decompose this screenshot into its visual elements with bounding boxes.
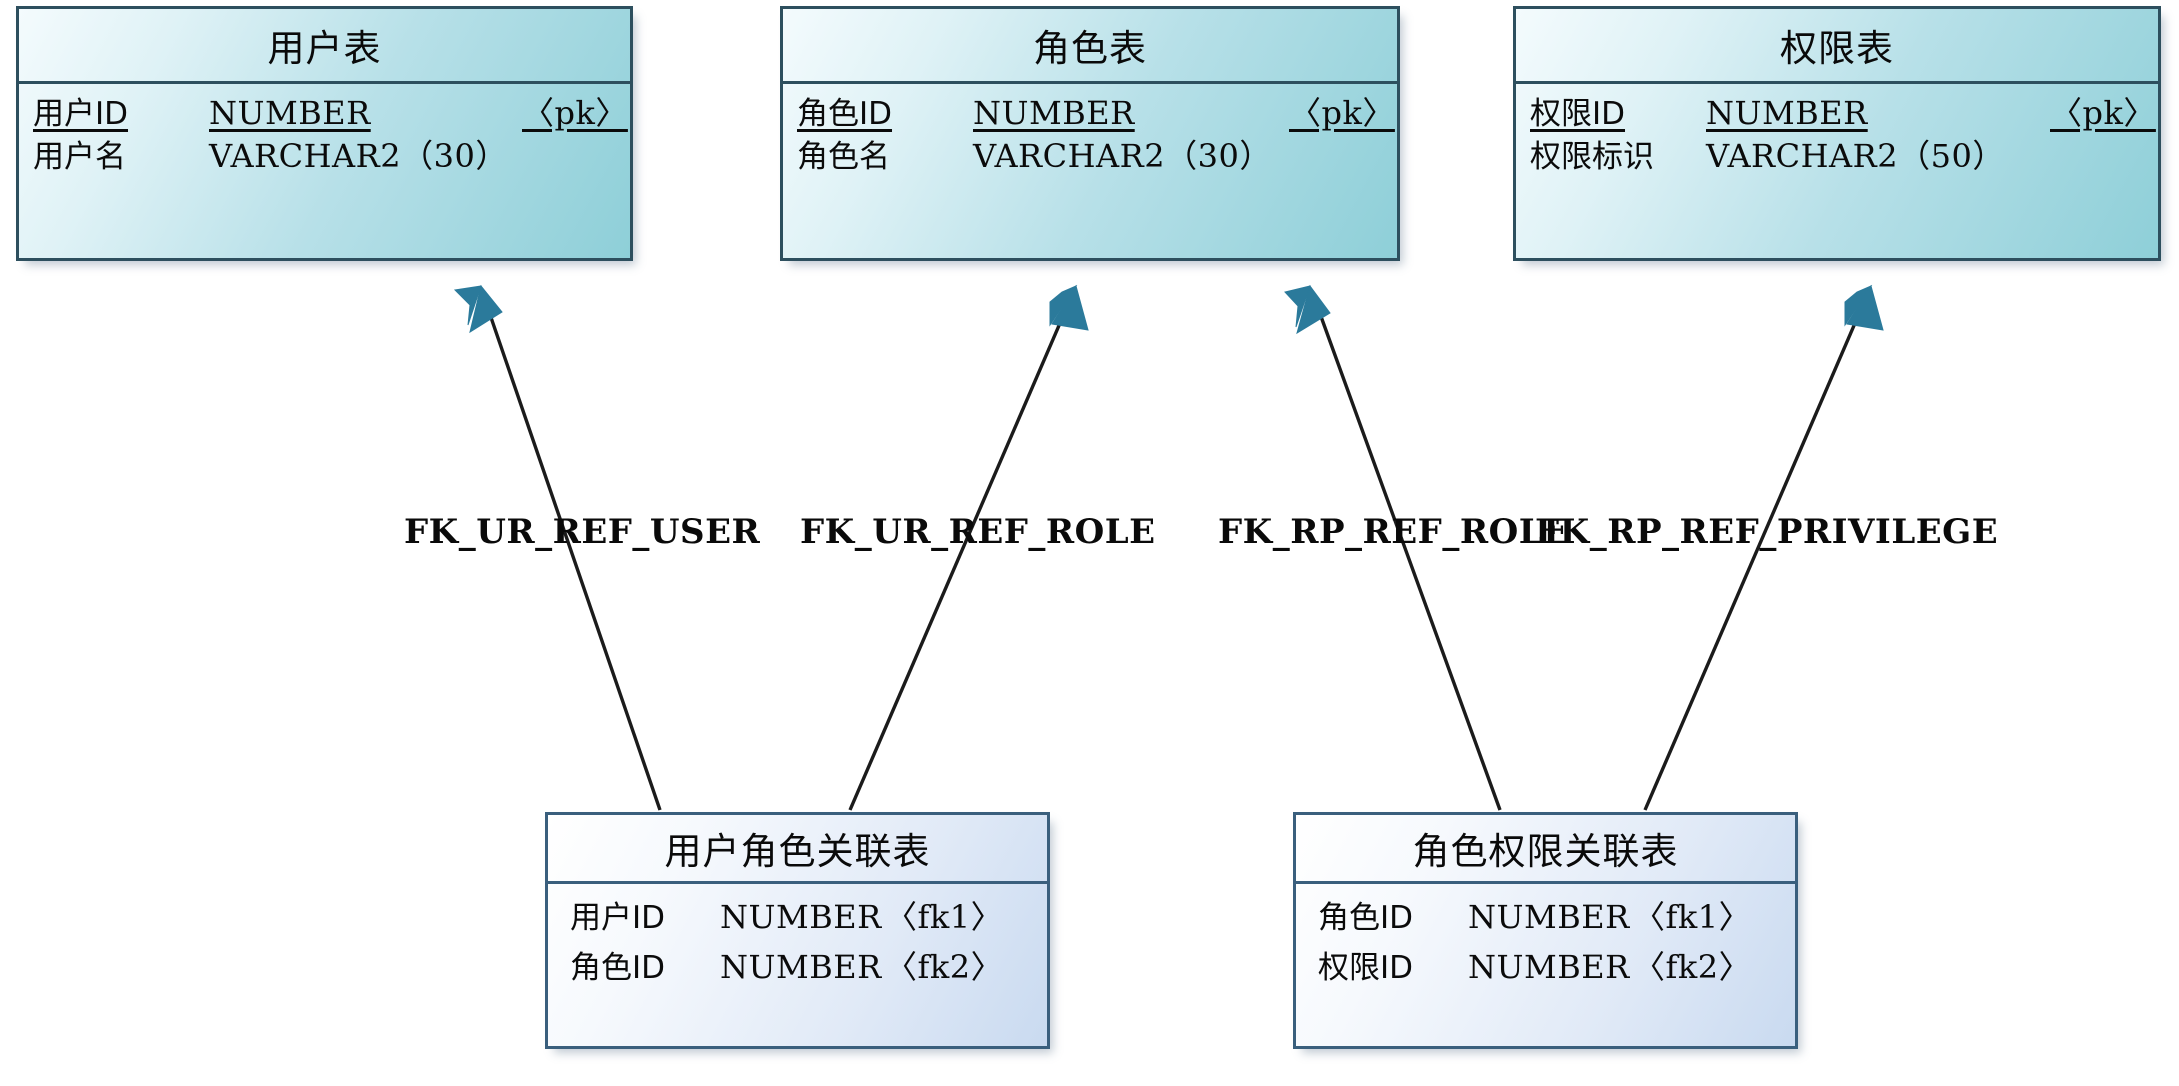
entity-title-user: 用户表 [19, 9, 630, 81]
attribute-name: 角色ID [1318, 893, 1468, 943]
attribute-row: 角色名 VARCHAR2（30） [797, 135, 1385, 178]
relationship-label-fk-rp-ref-role: FK_RP_REF_ROLE [1218, 512, 1570, 552]
attribute-key: 〈pk〉 [1289, 92, 1385, 135]
attribute-name: 权限ID [1530, 93, 1706, 136]
entity-title-privilege: 权限表 [1516, 9, 2158, 81]
attribute-type: NUMBER [973, 92, 1289, 135]
entity-title-role: 角色表 [783, 9, 1397, 81]
entity-attributes-user: 用户ID NUMBER 〈pk〉 用户名 VARCHAR2（30） [19, 84, 630, 258]
er-diagram-canvas: 用户表 用户ID NUMBER 〈pk〉 用户名 VARCHAR2（30） 角色… [0, 0, 2179, 1086]
attribute-row: 权限ID NUMBER 〈fk2〉 [1318, 942, 1777, 992]
entity-user[interactable]: 用户表 用户ID NUMBER 〈pk〉 用户名 VARCHAR2（30） [16, 6, 633, 261]
attribute-row: 权限标识 VARCHAR2（50） [1530, 135, 2146, 178]
attribute-key: 〈fk2〉 [885, 942, 1003, 992]
entity-privilege[interactable]: 权限表 权限ID NUMBER 〈pk〉 权限标识 VARCHAR2（50） [1513, 6, 2161, 261]
attribute-row: 用户ID NUMBER 〈pk〉 [33, 92, 618, 135]
entity-title-user-role: 用户角色关联表 [548, 815, 1047, 881]
attribute-name: 权限标识 [1530, 136, 1706, 179]
entity-attributes-role-privilege: 角色ID NUMBER 〈fk1〉 权限ID NUMBER 〈fk2〉 [1296, 884, 1795, 1046]
entity-role[interactable]: 角色表 角色ID NUMBER 〈pk〉 角色名 VARCHAR2（30） [780, 6, 1400, 261]
entity-attributes-role: 角色ID NUMBER 〈pk〉 角色名 VARCHAR2（30） [783, 84, 1397, 258]
entity-title-role-privilege: 角色权限关联表 [1296, 815, 1795, 881]
attribute-row: 权限ID NUMBER 〈pk〉 [1530, 92, 2146, 135]
attribute-name: 角色ID [797, 93, 973, 136]
attribute-type: NUMBER [720, 942, 885, 992]
relationship-label-fk-ur-ref-role: FK_UR_REF_ROLE [800, 512, 1156, 552]
relationship-label-fk-ur-ref-user: FK_UR_REF_USER [404, 512, 760, 552]
attribute-type: NUMBER [1468, 892, 1633, 942]
attribute-type: NUMBER [1706, 92, 2050, 135]
attribute-name: 用户名 [33, 136, 209, 179]
attribute-row: 用户ID NUMBER 〈fk1〉 [570, 892, 1029, 942]
attribute-type: VARCHAR2（30） [973, 135, 1289, 178]
entity-user-role[interactable]: 用户角色关联表 用户ID NUMBER 〈fk1〉 角色ID NUMBER 〈f… [545, 812, 1050, 1049]
entity-attributes-privilege: 权限ID NUMBER 〈pk〉 权限标识 VARCHAR2（50） [1516, 84, 2158, 258]
attribute-name: 用户ID [33, 93, 209, 136]
attribute-name: 角色ID [570, 943, 720, 993]
attribute-name: 权限ID [1318, 943, 1468, 993]
attribute-type: NUMBER [1468, 942, 1633, 992]
entity-role-privilege[interactable]: 角色权限关联表 角色ID NUMBER 〈fk1〉 权限ID NUMBER 〈f… [1293, 812, 1798, 1049]
attribute-type: NUMBER [720, 892, 885, 942]
relationship-label-fk-rp-ref-privilege: FK_RP_REF_PRIVILEGE [1535, 512, 1998, 552]
attribute-row: 角色ID NUMBER 〈pk〉 [797, 92, 1385, 135]
attribute-type: VARCHAR2（50） [1706, 135, 2050, 178]
attribute-key: 〈fk2〉 [1633, 942, 1751, 992]
attribute-name: 用户ID [570, 893, 720, 943]
attribute-name: 角色名 [797, 136, 973, 179]
attribute-key: 〈fk1〉 [1633, 892, 1751, 942]
attribute-key: 〈fk1〉 [885, 892, 1003, 942]
attribute-key: 〈pk〉 [522, 92, 618, 135]
attribute-row: 角色ID NUMBER 〈fk1〉 [1318, 892, 1777, 942]
entity-attributes-user-role: 用户ID NUMBER 〈fk1〉 角色ID NUMBER 〈fk2〉 [548, 884, 1047, 1046]
attribute-key: 〈pk〉 [2050, 92, 2146, 135]
attribute-type: VARCHAR2（30） [209, 135, 522, 178]
attribute-type: NUMBER [209, 92, 522, 135]
attribute-row: 角色ID NUMBER 〈fk2〉 [570, 942, 1029, 992]
attribute-row: 用户名 VARCHAR2（30） [33, 135, 618, 178]
